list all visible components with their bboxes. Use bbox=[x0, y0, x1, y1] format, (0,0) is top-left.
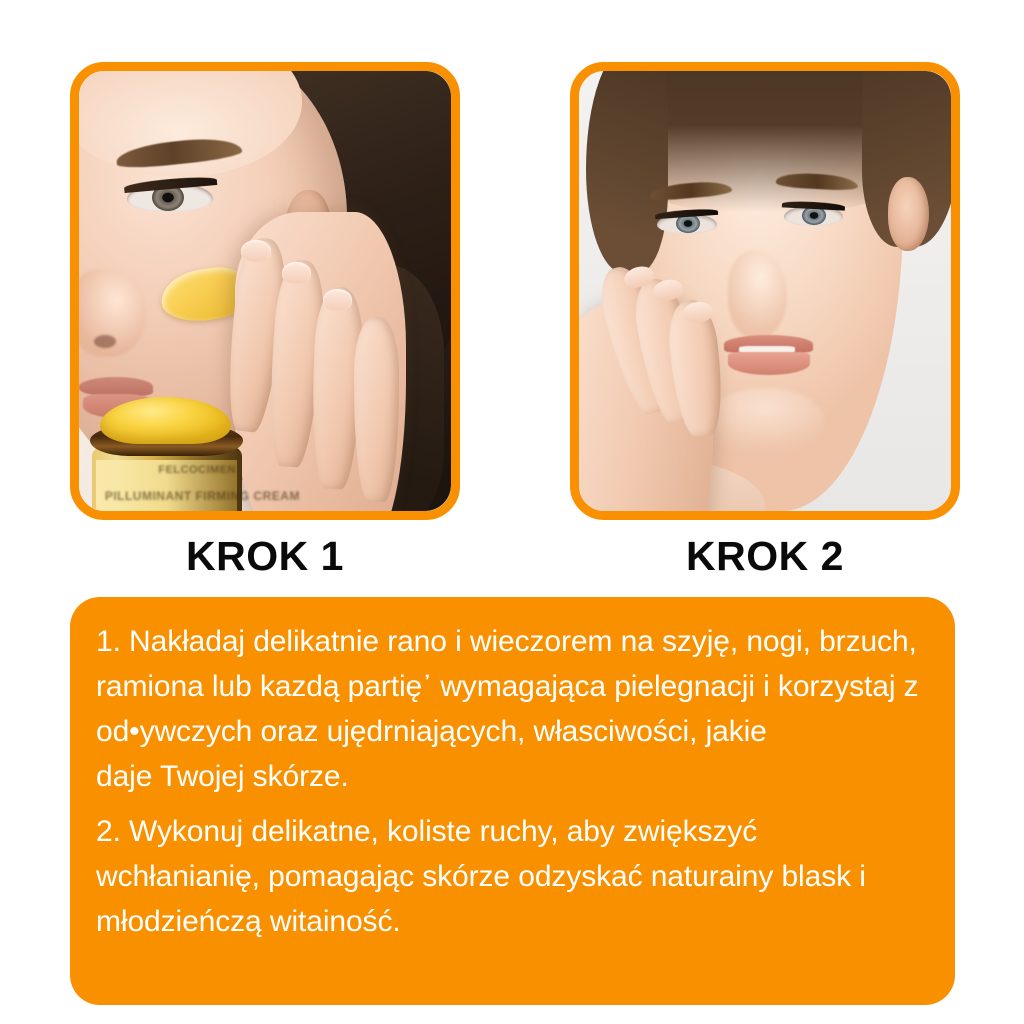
photo1-upper-lip bbox=[79, 377, 153, 396]
photo2-lower-lip bbox=[728, 352, 810, 375]
photo2-nose bbox=[728, 251, 788, 339]
photo1-fingernail bbox=[241, 240, 271, 262]
instruction-item-1: 1. Nakładaj delikatnie rano i wieczorem … bbox=[96, 619, 929, 799]
step1-photo-frame: FELCOCIMEN PILLUMINANT FIRMING CREAM bbox=[70, 62, 460, 520]
cream-jar-brand-text: FELCOCIMEN bbox=[158, 464, 236, 476]
step2-photo-frame bbox=[570, 62, 960, 520]
instruction-item-2: 2. Wykonuj delikatne, koliste ruchy, aby… bbox=[96, 809, 929, 944]
cream-jar-content bbox=[100, 397, 231, 445]
photo1-fingernail bbox=[323, 289, 353, 311]
photo1-cream-jar: FELCOCIMEN PILLUMINANT FIRMING CREAM bbox=[90, 397, 246, 511]
product-instruction-card: FELCOCIMEN PILLUMINANT FIRMING CREAM bbox=[0, 0, 1024, 1024]
cream-jar-description-text: PILLUMINANT FIRMING CREAM bbox=[105, 489, 300, 503]
instructions-panel: 1. Nakładaj delikatnie rano i wieczorem … bbox=[70, 597, 955, 1005]
step1-caption: KROK 1 bbox=[70, 533, 460, 580]
photo1-fingernail bbox=[282, 262, 312, 284]
step2-photo bbox=[579, 71, 951, 511]
step2-caption: KROK 2 bbox=[570, 533, 960, 580]
step1-photo: FELCOCIMEN PILLUMINANT FIRMING CREAM bbox=[79, 71, 451, 511]
photo2-hair-left bbox=[586, 71, 668, 273]
photo1-finger bbox=[354, 317, 399, 502]
photo2-chin bbox=[705, 388, 824, 458]
cream-jar-label: FELCOCIMEN PILLUMINANT FIRMING CREAM bbox=[96, 460, 237, 511]
photo2-ear bbox=[888, 177, 929, 252]
